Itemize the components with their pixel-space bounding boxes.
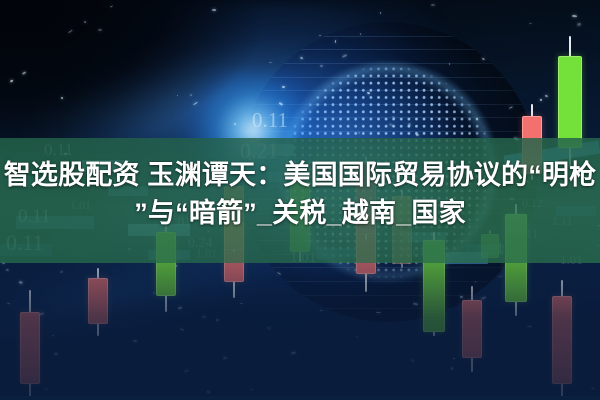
thumbnail-image: 0.111.010.110.111.011.011.010.110.210.24…: [0, 0, 600, 400]
bottom-edge-line: [0, 396, 600, 400]
bottom-scrim: [0, 263, 600, 400]
headline-line-2: ”与“暗箭”_关税_越南_国家: [0, 194, 600, 232]
headline-line-1: 智选股配资 玉渊谭天：美国国际贸易协议的“明枪: [0, 156, 600, 194]
candle-body: [558, 56, 582, 148]
headline: 智选股配资 玉渊谭天：美国国际贸易协议的“明枪 ”与“暗箭”_关税_越南_国家: [0, 156, 600, 232]
